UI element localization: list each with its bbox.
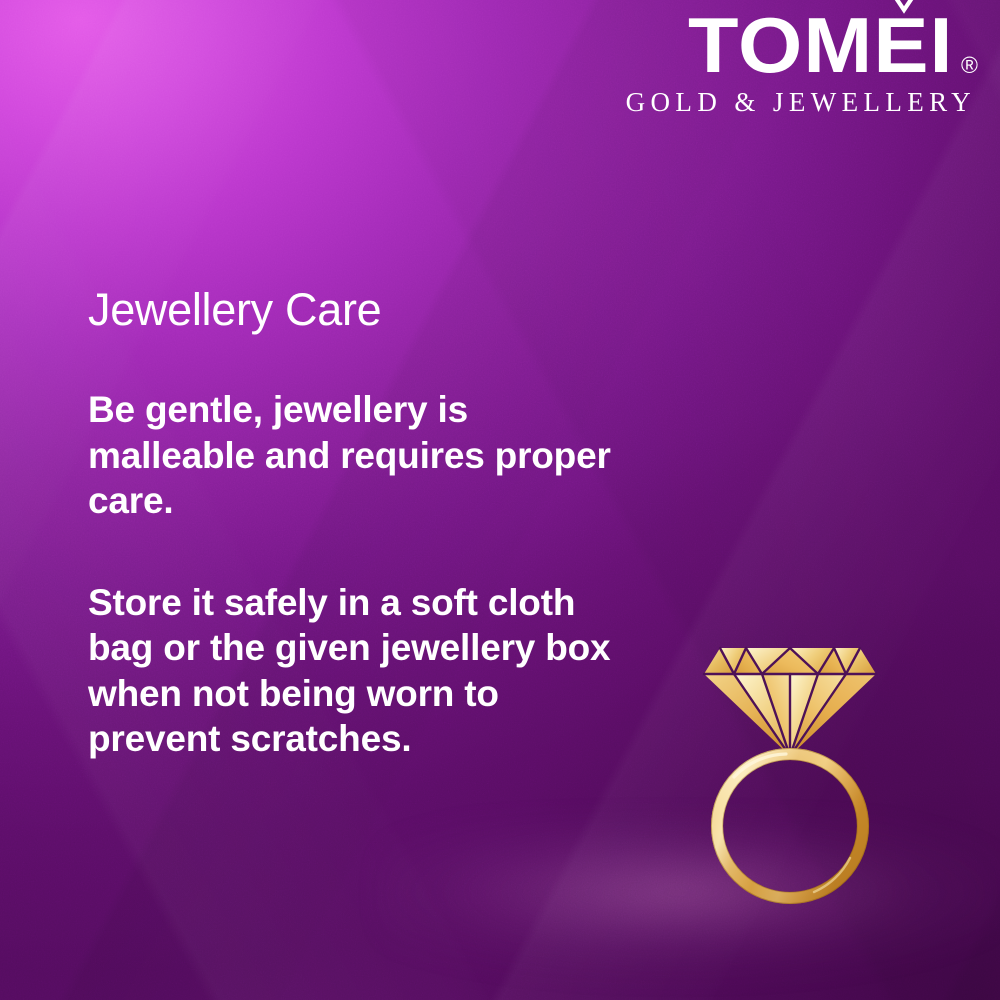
- registered-trademark-icon: ®: [961, 54, 978, 77]
- copy-block: Jewellery Care Be gentle, jewellery is m…: [88, 285, 688, 762]
- diamond-ring-illustration: [690, 636, 890, 916]
- brand-tagline: GOLD & JEWELLERY: [626, 87, 978, 118]
- gold-ring-icon: [711, 748, 868, 903]
- poster-canvas: TOMEI ® GOLD & JEWELLERY Jewellery Care …: [0, 0, 1000, 1000]
- page-title: Jewellery Care: [88, 285, 688, 335]
- brand-wordmark: TOMEI: [688, 8, 954, 83]
- brand-wordmark-row: TOMEI ®: [626, 8, 978, 83]
- diamond-gem-icon: [704, 648, 876, 756]
- brand-logo[interactable]: TOMEI ® GOLD & JEWELLERY: [626, 8, 978, 118]
- care-paragraph-1: Be gentle, jewellery is malleable and re…: [88, 387, 633, 524]
- care-paragraph-2: Store it safely in a soft cloth bag or t…: [88, 580, 633, 762]
